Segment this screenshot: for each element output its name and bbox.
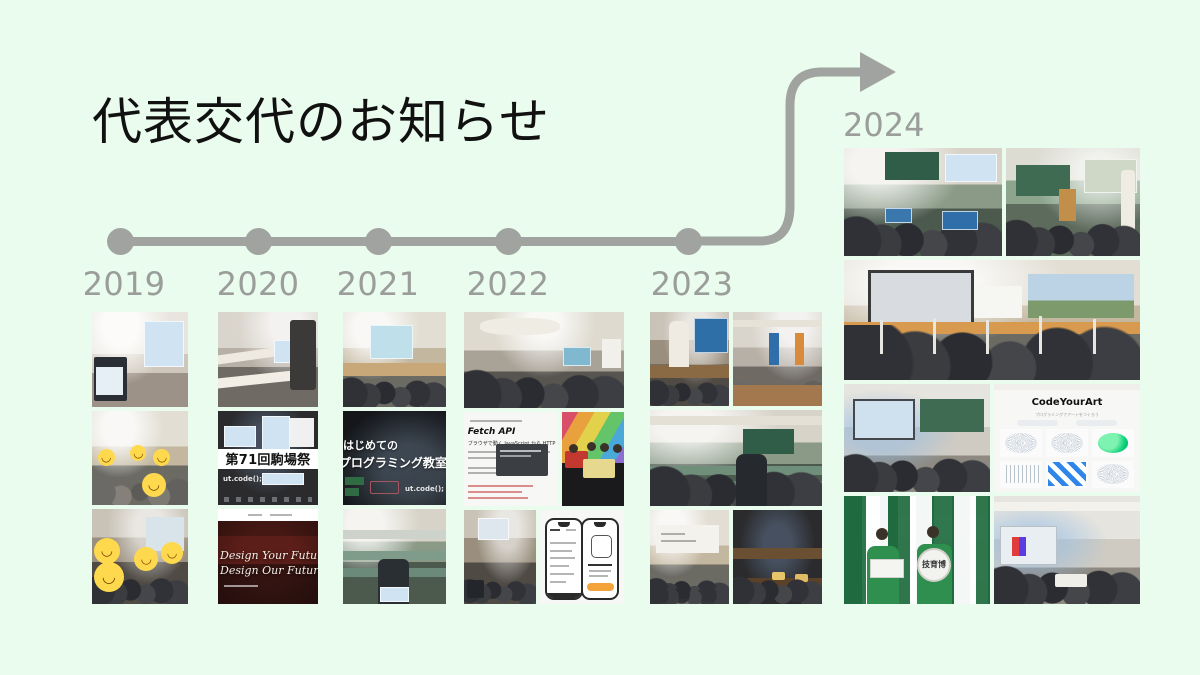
photo-2024-lecture-laptops (844, 148, 1002, 256)
laptop-screen (942, 211, 979, 230)
photo-column-2020: 第71回駒場祭 ut.code(); Design Your Future, D… (218, 312, 318, 604)
seated-person (290, 320, 316, 390)
code-line (500, 455, 532, 457)
photo-2021-classroom-projector (343, 312, 446, 407)
app-header (566, 529, 576, 531)
ui-panel (290, 418, 314, 446)
art-thumbnail[interactable] (1092, 429, 1134, 456)
laptop-screen (885, 208, 912, 223)
art-thumbnail[interactable] (1046, 429, 1088, 456)
photo-2023-dinner-tables (733, 510, 822, 604)
photo-2021-lecture-hall-back (343, 509, 446, 604)
codeyourart-title: CodeYourArt (994, 397, 1140, 408)
emoji-face-overlay: ◡ (153, 449, 170, 466)
list-item (550, 542, 576, 544)
seated-people (92, 462, 188, 506)
app-subtext (589, 570, 611, 572)
students (343, 363, 446, 407)
ceiling-lights (650, 416, 822, 426)
presentation-slide: 代表交代のお知らせ 2019 2020 2021 2022 2023 2024 (0, 0, 1200, 675)
phone-notch (594, 522, 606, 527)
photo-2022-meetup-tables (464, 510, 536, 604)
article-title: Fetch API (468, 427, 516, 437)
emoji-face-overlay: ◡ (161, 542, 183, 564)
komabasai-banner-text: 第71回駒場祭 (218, 449, 318, 470)
link-text (468, 497, 528, 499)
art-thumbnail[interactable] (1092, 461, 1134, 488)
banner (769, 333, 780, 365)
person (613, 444, 622, 453)
ad-headline-line2: プログラミング教室 (343, 454, 446, 471)
projector-device (1055, 574, 1087, 587)
link-text (468, 491, 522, 493)
ui-panel (224, 426, 256, 447)
photo-2022-fetch-api-article: Fetch API ブラウザで動く JavaScript から HTTP リクエ… (464, 412, 558, 506)
photo-2024-classroom-hands-up (844, 260, 1140, 380)
input-field (262, 473, 304, 484)
code-line (500, 450, 541, 452)
codeyourart-subtitle: プログラミングでアートをつくろう (994, 412, 1140, 418)
projector-screen (853, 399, 915, 440)
phone-home-bar (547, 593, 581, 599)
phone-notch (558, 522, 570, 527)
laptop-screen (96, 367, 123, 395)
raised-hand (1093, 319, 1096, 354)
photo-column-2021: はじめての プログラミング教室 ut.code(); (343, 312, 446, 604)
photo-2021-programming-class-ad: はじめての プログラミング教室 ut.code(); (343, 411, 446, 506)
audience (464, 364, 624, 408)
tag-chip (345, 477, 364, 485)
photo-2019-classroom-seated: ◡ ◡ ◡ ◡ (92, 411, 188, 506)
chalkboard (885, 152, 939, 180)
students (844, 442, 990, 492)
window (1028, 274, 1135, 317)
app-headline (588, 564, 612, 566)
photo-2024-lab-lecture (1006, 148, 1140, 256)
award-certificate (583, 459, 615, 478)
seated-person (736, 454, 767, 506)
projector-screen (945, 154, 997, 182)
ceiling-light (343, 530, 446, 539)
photo-2022-large-hall (464, 312, 624, 408)
photo-2024-workshop-projector (994, 496, 1140, 604)
award-badge: 技育博 (917, 548, 951, 582)
award-certificate (870, 559, 904, 578)
photo-2023-lecture-hall-wide (650, 410, 822, 506)
ceiling-lights (733, 320, 822, 328)
poster-line-2: Design Our Future (220, 564, 318, 577)
list-item (550, 573, 574, 575)
person (587, 442, 596, 451)
poster-line-1: Design Your Future, (220, 549, 318, 562)
projector-screen (370, 325, 413, 359)
whiteboard-writing (661, 540, 696, 542)
emoji-face-overlay: ◡ (142, 473, 166, 497)
tag-chip (345, 488, 359, 496)
mentors-and-students (650, 363, 729, 406)
illustration-bubble (591, 535, 612, 558)
wood-floor (733, 385, 822, 406)
monitor (694, 318, 728, 354)
list-item (550, 550, 572, 552)
person (569, 444, 578, 453)
phone-mockup-right (581, 518, 619, 601)
cta-button[interactable] (370, 481, 399, 494)
nav-link (270, 514, 292, 516)
photo-2020-komabasai-banner: 第71回駒場祭 ut.code(); (218, 411, 318, 506)
photo-columns: ◡ ◡ ◡ ◡ ◡ ◡ ◡ ◡ (0, 0, 1200, 675)
photo-2023-mentoring-laptops (650, 312, 729, 406)
ceiling-dome (480, 318, 560, 335)
list-item (550, 581, 566, 583)
projector-screen (868, 270, 975, 329)
art-thumbnail[interactable] (1046, 461, 1088, 488)
emoji-face-overlay: ◡ (98, 449, 115, 466)
whiteboard (974, 286, 1021, 317)
browser-bar (994, 384, 1140, 390)
standing-person (669, 321, 690, 366)
photo-2023-group-photo-whiteboard (650, 510, 729, 604)
raised-hand (880, 320, 883, 354)
photo-column-2024: CodeYourArt プログラミングでアートをつくろう (844, 148, 1140, 604)
window-light (144, 321, 184, 367)
photo-column-2022: Fetch API ブラウザで動く JavaScript から HTTP リクエ… (464, 312, 624, 604)
app-subtext (589, 575, 608, 577)
link-text (468, 485, 534, 487)
shrine-photo (218, 521, 318, 604)
photo-column-2023 (650, 312, 822, 604)
banner (795, 333, 804, 365)
emoji-face-overlay: ◡ (130, 445, 146, 461)
raised-hand (933, 318, 936, 354)
phone-mockup-left (545, 518, 583, 601)
photo-2024-award-backdrop: 技育博 (844, 496, 990, 604)
projector-screen (478, 518, 509, 541)
breadcrumb (470, 420, 522, 422)
art-gallery-grid (1000, 429, 1134, 487)
ceiling-light (994, 502, 1140, 511)
diners (733, 561, 822, 604)
chalkboard (743, 429, 795, 454)
nav-chip[interactable] (1017, 420, 1058, 426)
utcode-logo: ut.code(); (405, 485, 444, 493)
list-item (550, 557, 575, 559)
photo-2022-app-mockups (540, 510, 624, 604)
nav-chip[interactable] (1076, 420, 1117, 426)
group-front-row (650, 576, 729, 604)
poster-caption (224, 585, 258, 587)
app-header (550, 529, 560, 531)
photo-2024-codeyourart-site: CodeYourArt プログラミングでアートをつくろう (994, 384, 1140, 492)
emoji-face-overlay: ◡ (94, 538, 120, 564)
ad-headline-line1: はじめての (343, 437, 398, 453)
art-thumbnail[interactable] (1000, 429, 1042, 456)
photo-2020-poster-shrine: Design Your Future, Design Our Future (218, 509, 318, 604)
art-thumbnail[interactable] (1000, 461, 1042, 488)
photo-2019-lobby-laptop (92, 312, 188, 407)
whiteboard-writing (661, 533, 685, 535)
chalkboard (920, 399, 984, 431)
person (600, 443, 609, 452)
table-row (733, 548, 822, 559)
nav-link (248, 514, 262, 516)
app-primary-button[interactable] (587, 583, 614, 591)
students (1006, 206, 1140, 256)
photo-2022-award-stage (562, 412, 624, 506)
utcode-logo: ut.code(); (223, 475, 262, 483)
laptop-silhouette (467, 580, 484, 599)
site-header (218, 509, 318, 520)
list-item (550, 565, 569, 567)
photo-column-2019: ◡ ◡ ◡ ◡ ◡ ◡ ◡ ◡ (92, 312, 188, 604)
photo-2023-open-workspace (733, 312, 822, 406)
photo-2024-school-projector (844, 384, 990, 492)
photo-2019-workshop-laptops: ◡ ◡ ◡ ◡ (92, 509, 188, 604)
raised-hand (986, 320, 989, 354)
ui-panel (262, 416, 290, 450)
laptop-screen (380, 587, 409, 602)
toolbar-icons (224, 497, 312, 502)
photo-2020-lab-desks (218, 312, 318, 407)
raised-hand (1039, 316, 1042, 353)
